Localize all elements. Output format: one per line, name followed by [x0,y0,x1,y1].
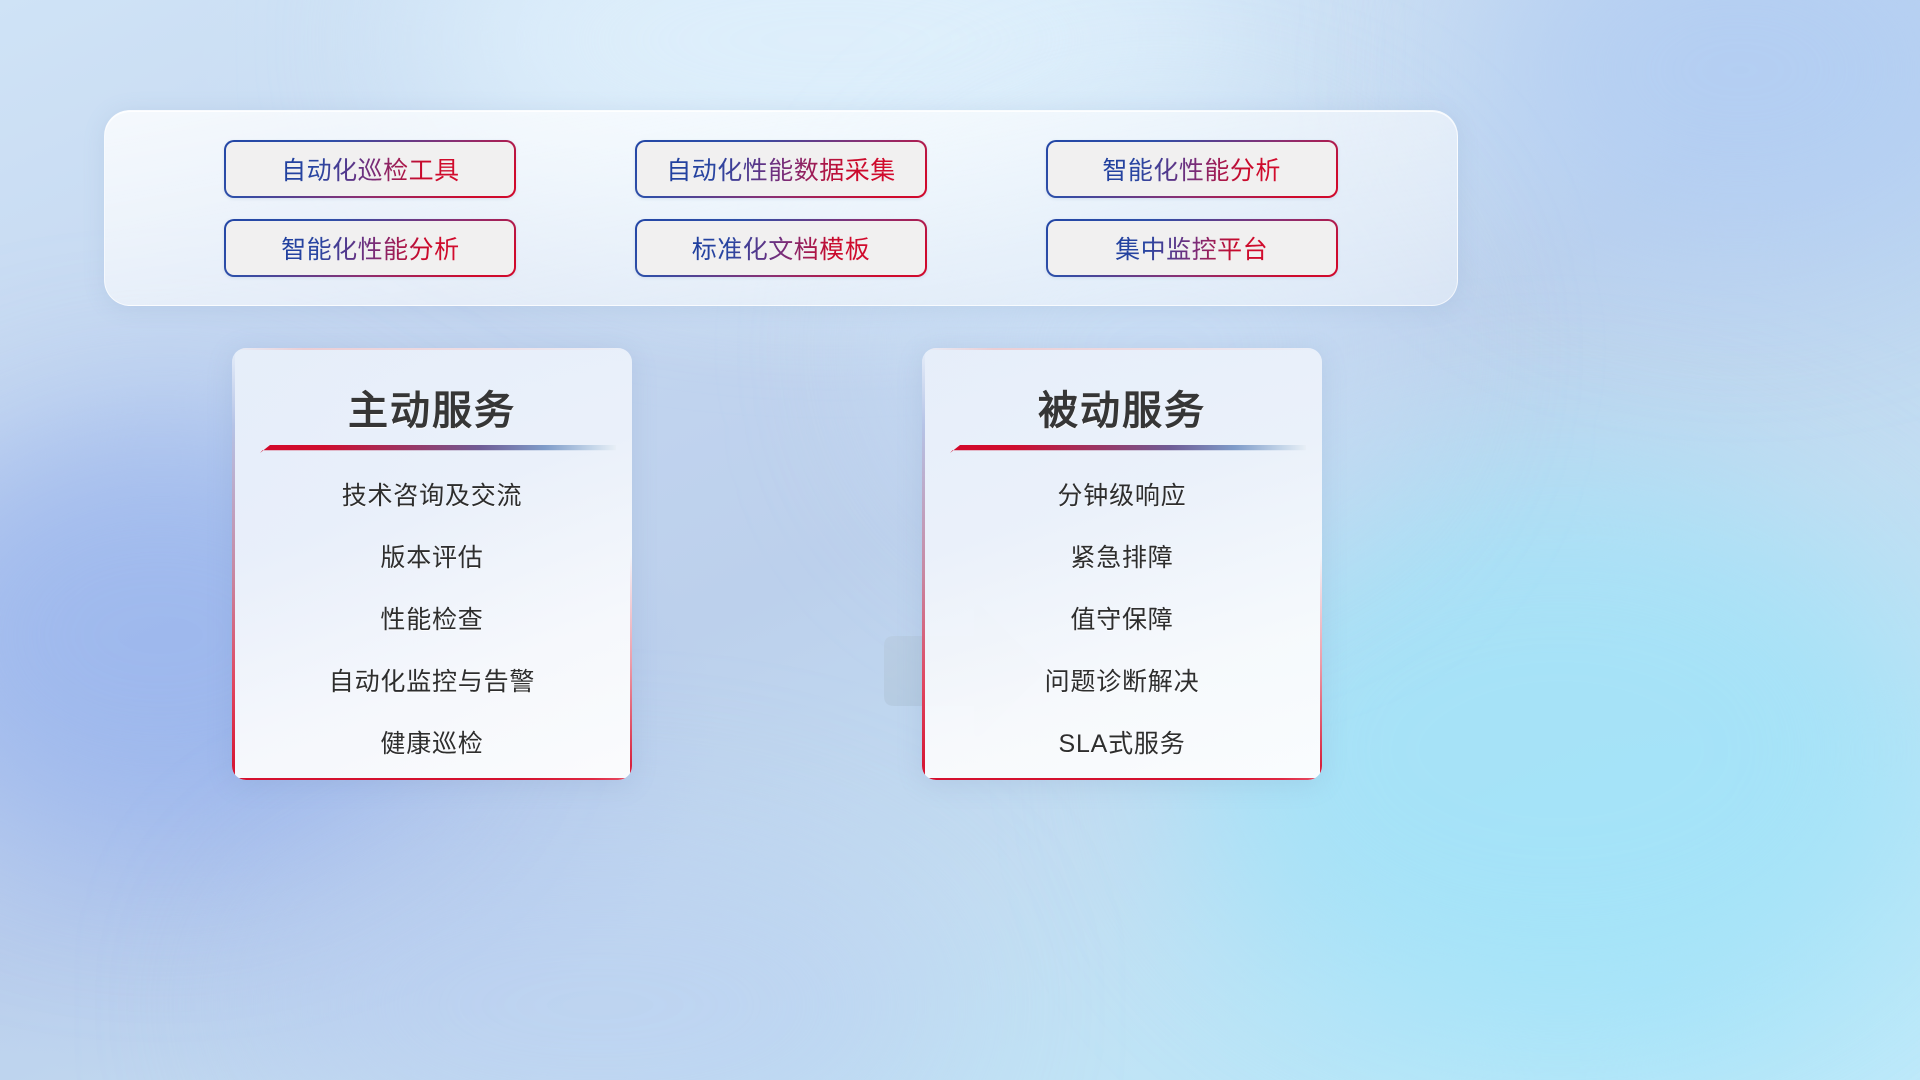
service-item-list: 技术咨询及交流 版本评估 性能检查 自动化监控与告警 健康巡检 [232,470,632,766]
title-divider-gradient [950,444,1306,453]
capability-pill-1[interactable]: 自动化性能数据采集 [635,140,927,198]
card-bottom-accent-bar [232,778,632,781]
pill-grid: 自动化巡检工具 自动化性能数据采集 智能化性能分析 智能化性能分析 标准化文档模… [105,111,1457,305]
capability-pill-5[interactable]: 集中监控平台 [1046,219,1338,277]
service-list-item: SLA式服务 [1058,724,1185,760]
capability-pill-label: 标准化文档模板 [692,230,871,266]
background-blob [250,840,950,1080]
capability-pill-label: 自动化性能数据采集 [666,151,896,187]
slide-canvas: 自动化巡检工具 自动化性能数据采集 智能化性能分析 智能化性能分析 标准化文档模… [0,0,1920,1080]
title-divider-gradient [260,444,616,453]
service-list-item: 分钟级响应 [1057,476,1186,512]
capability-pills-panel: 自动化巡检工具 自动化性能数据采集 智能化性能分析 智能化性能分析 标准化文档模… [104,110,1458,306]
service-list-item: 健康巡检 [380,724,483,760]
service-card-title: 被动服务 [922,378,1322,436]
service-list-item: 技术咨询及交流 [342,476,523,512]
capability-pill-label: 智能化性能分析 [281,230,460,266]
service-list-item: 版本评估 [380,538,483,574]
capability-pill-label: 自动化巡检工具 [281,151,460,187]
background-blob [1480,0,1920,250]
card-top-highlight [922,348,1322,350]
capability-pill-label: 集中监控平台 [1115,230,1268,266]
card-top-highlight [232,348,632,350]
service-card-passive[interactable]: 被动服务 分钟级响应 紧急排障 值守保障 问题诊断解决 SLA式服务 [922,348,1322,780]
capability-pill-3[interactable]: 智能化性能分析 [224,219,516,277]
card-bottom-accent-bar [922,778,1322,781]
capability-pill-label: 智能化性能分析 [1102,151,1281,187]
capability-pill-0[interactable]: 自动化巡检工具 [224,140,516,198]
service-card-title: 主动服务 [232,378,632,436]
service-list-item: 值守保障 [1070,600,1173,636]
service-list-item: 性能检查 [380,600,483,636]
service-list-item: 自动化监控与告警 [329,662,535,698]
service-list-item: 问题诊断解决 [1045,662,1200,698]
capability-pill-4[interactable]: 标准化文档模板 [635,219,927,277]
service-card-active[interactable]: 主动服务 技术咨询及交流 版本评估 性能检查 自动化监控与告警 健康巡检 [232,348,632,780]
capability-pill-2[interactable]: 智能化性能分析 [1046,140,1338,198]
service-item-list: 分钟级响应 紧急排障 值守保障 问题诊断解决 SLA式服务 [922,470,1322,766]
service-list-item: 紧急排障 [1070,538,1173,574]
